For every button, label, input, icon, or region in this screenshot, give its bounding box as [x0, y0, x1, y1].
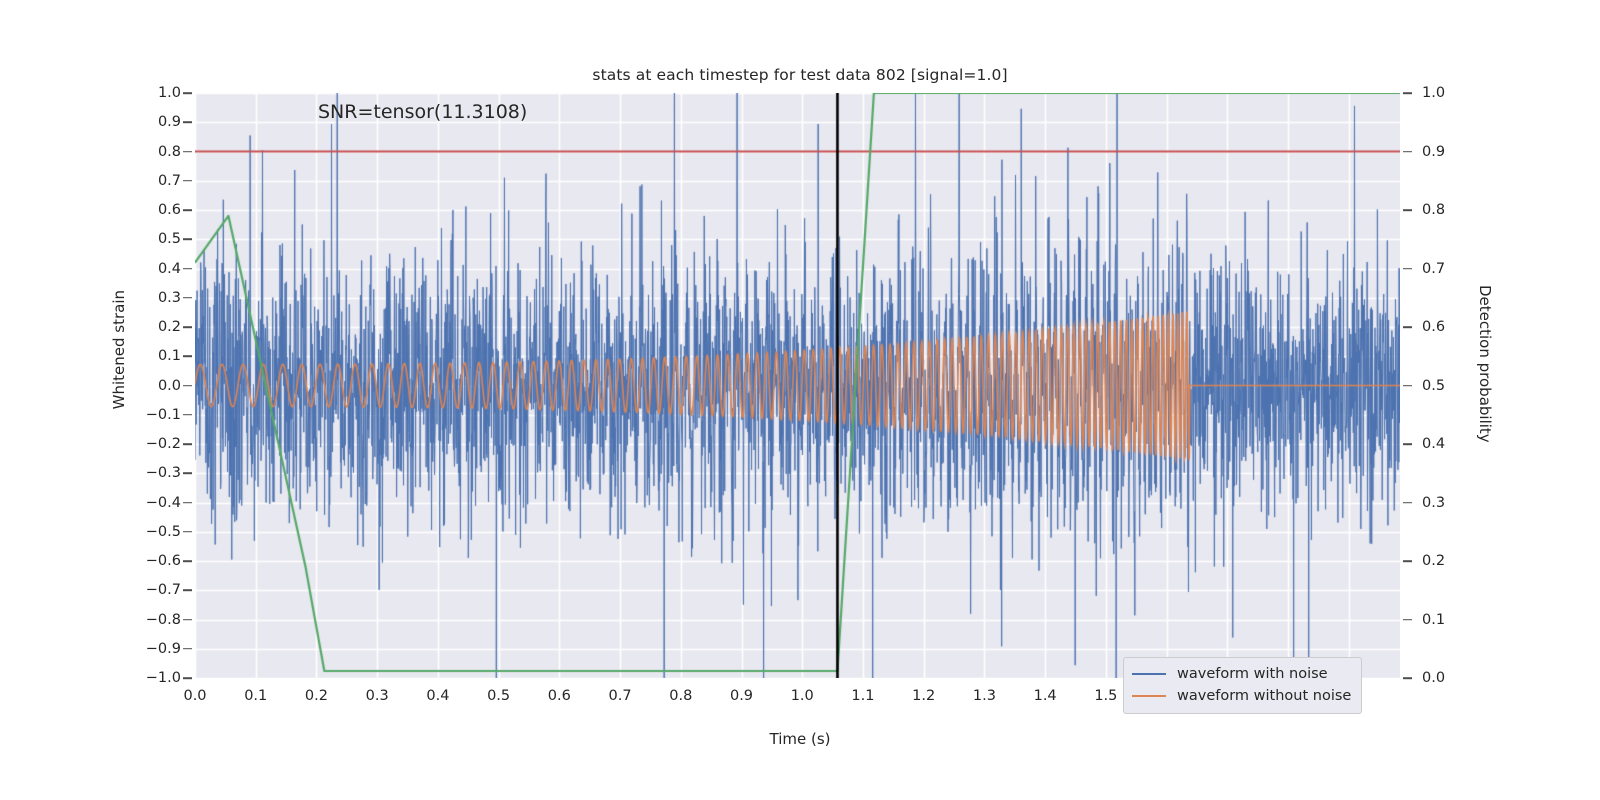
chart-canvas: [195, 93, 1400, 678]
x-tick-label: 0.2: [305, 688, 328, 704]
y-tick-mark-right: [1403, 326, 1412, 328]
y-axis-label-left: Whitened strain: [110, 290, 140, 409]
y-tick-label-right: 0.1: [1422, 612, 1445, 628]
legend-color-swatch: [1132, 695, 1166, 698]
y-tick-mark-right: [1403, 151, 1412, 153]
y-tick-mark-left: [183, 355, 192, 357]
y-tick-label-left: −0.5: [146, 524, 181, 540]
x-tick-label: 1.0: [791, 688, 814, 704]
y-tick-mark-left: [183, 209, 192, 211]
y-tick-label-left: 0.1: [158, 348, 181, 364]
y-tick-mark-right: [1403, 443, 1412, 445]
y-tick-label-left: 0.7: [158, 173, 181, 189]
y-tick-mark-left: [183, 531, 192, 533]
x-tick-label: 1.3: [973, 688, 996, 704]
y-tick-label-right: 0.4: [1422, 436, 1445, 452]
x-tick-label: 1.2: [912, 688, 935, 704]
legend-item: waveform with noise: [1132, 663, 1351, 685]
y-tick-mark-right: [1403, 560, 1412, 562]
x-tick-label: 0.4: [426, 688, 449, 704]
x-tick-label: 0.7: [609, 688, 632, 704]
legend-color-swatch: [1132, 673, 1166, 676]
y-tick-label-left: 0.0: [158, 378, 181, 394]
y-tick-mark-left: [183, 589, 192, 591]
x-tick-label: 0.9: [730, 688, 753, 704]
y-tick-mark-left: [183, 326, 192, 328]
legend-item: waveform without noise: [1132, 685, 1351, 707]
y-tick-label-right: 0.5: [1422, 378, 1445, 394]
y-tick-label-left: −0.9: [146, 641, 181, 657]
y-tick-mark-left: [183, 297, 192, 299]
y-tick-label-left: 0.2: [158, 319, 181, 335]
y-tick-mark-left: [183, 151, 192, 153]
y-tick-mark-left: [183, 238, 192, 240]
x-tick-label: 0.3: [366, 688, 389, 704]
y-tick-mark-right: [1403, 619, 1412, 621]
y-tick-label-left: 0.3: [158, 290, 181, 306]
y-tick-label-left: −0.8: [146, 612, 181, 628]
y-tick-mark-left: [183, 121, 192, 123]
y-tick-mark-left: [183, 268, 192, 270]
y-tick-label-left: 0.5: [158, 231, 181, 247]
y-tick-label-left: −0.2: [146, 436, 181, 452]
y-tick-label-right: 0.0: [1422, 670, 1445, 686]
y-tick-mark-left: [183, 443, 192, 445]
y-tick-mark-left: [183, 502, 192, 504]
y-tick-mark-right: [1403, 677, 1412, 679]
y-tick-mark-left: [183, 472, 192, 474]
y-tick-label-right: 0.9: [1422, 144, 1445, 160]
y-tick-mark-left: [183, 560, 192, 562]
x-tick-label: 0.5: [487, 688, 510, 704]
plot-area: [195, 93, 1400, 678]
legend-label: waveform without noise: [1177, 688, 1351, 704]
y-tick-label-left: 0.6: [158, 202, 181, 218]
y-tick-mark-right: [1403, 502, 1412, 504]
y-tick-mark-right: [1403, 385, 1412, 387]
y-tick-label-left: 0.9: [158, 114, 181, 130]
y-tick-label-left: −1.0: [146, 670, 181, 686]
matplotlib-figure: stats at each timestep for test data 802…: [0, 0, 1600, 800]
x-tick-label: 1.1: [851, 688, 874, 704]
x-axis-label: Time (s): [0, 730, 1600, 748]
y-tick-label-left: 0.8: [158, 144, 181, 160]
y-tick-label-left: −0.6: [146, 553, 181, 569]
x-tick-label: 0.6: [548, 688, 571, 704]
x-tick-label: 1.4: [1034, 688, 1057, 704]
x-tick-label: 0.0: [183, 688, 206, 704]
y-tick-mark-right: [1403, 92, 1412, 94]
y-tick-label-left: 1.0: [158, 85, 181, 101]
y-tick-label-left: −0.3: [146, 465, 181, 481]
y-tick-label-right: 0.7: [1422, 261, 1445, 277]
y-tick-mark-right: [1403, 268, 1412, 270]
x-tick-label: 0.1: [244, 688, 267, 704]
y-tick-label-left: 0.4: [158, 261, 181, 277]
y-tick-mark-left: [183, 180, 192, 182]
y-tick-label-right: 0.8: [1422, 202, 1445, 218]
legend-label: waveform with noise: [1177, 666, 1328, 682]
x-tick-label: 0.8: [669, 688, 692, 704]
y-tick-label-right: 0.3: [1422, 495, 1445, 511]
y-tick-label-right: 0.2: [1422, 553, 1445, 569]
y-tick-mark-left: [183, 385, 192, 387]
y-tick-label-left: −0.7: [146, 582, 181, 598]
y-tick-mark-left: [183, 648, 192, 650]
y-tick-label-left: −0.4: [146, 495, 181, 511]
page-title: stats at each timestep for test data 802…: [0, 66, 1600, 84]
y-tick-mark-left: [183, 414, 192, 416]
y-tick-mark-left: [183, 677, 192, 679]
y-tick-mark-left: [183, 92, 192, 94]
snr-annotation: SNR=tensor(11.3108): [318, 101, 527, 123]
chart-legend: waveform with noisewaveform without nois…: [1123, 657, 1362, 714]
y-tick-label-right: 1.0: [1422, 85, 1445, 101]
y-axis-label-right: Detection probability: [1464, 285, 1494, 443]
x-tick-label: 1.5: [1094, 688, 1117, 704]
y-tick-mark-left: [183, 619, 192, 621]
y-tick-label-left: −0.1: [146, 407, 181, 423]
y-tick-mark-right: [1403, 209, 1412, 211]
y-tick-label-right: 0.6: [1422, 319, 1445, 335]
